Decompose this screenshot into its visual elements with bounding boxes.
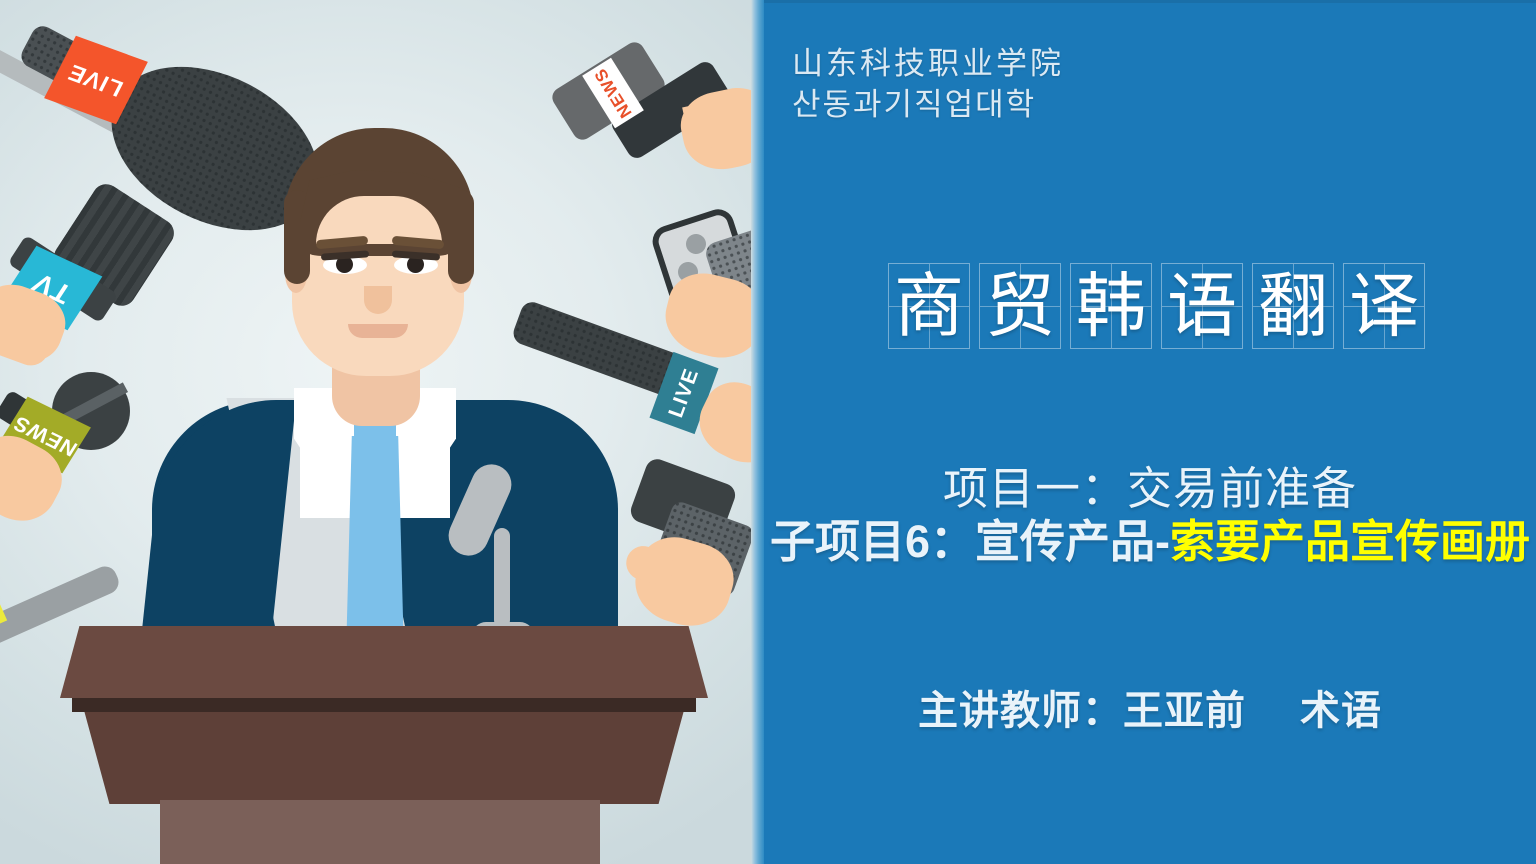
project-line: 项目一：交易前准备 bbox=[764, 462, 1536, 515]
school-name-chinese: 山东科技职业学院 bbox=[792, 44, 1392, 85]
podium-desk-mic-gooseneck-shape bbox=[494, 528, 510, 628]
title-char-3: 韩 bbox=[1076, 271, 1146, 341]
title-char-5: 翻 bbox=[1258, 271, 1328, 341]
title-char-box-4: 语 bbox=[1161, 263, 1243, 349]
mouth-shape bbox=[348, 324, 408, 338]
course-title-grid: 商 贸 韩 语 翻 译 bbox=[888, 263, 1425, 349]
podium-stem-shape bbox=[160, 800, 600, 864]
title-char-box-6: 译 bbox=[1343, 263, 1425, 349]
nose-shape bbox=[364, 286, 392, 314]
title-char-box-1: 商 bbox=[888, 263, 970, 349]
panel-edge-gradient-strip bbox=[751, 0, 764, 864]
title-char-box-2: 贸 bbox=[979, 263, 1061, 349]
subproject-plain-text: 子项目6：宣传产品- bbox=[770, 516, 1170, 567]
title-char-6: 译 bbox=[1349, 271, 1419, 341]
podium-body-shape bbox=[72, 712, 696, 804]
title-char-1: 商 bbox=[894, 271, 964, 341]
subproject-line: 子项目6：宣传产品-索要产品宣传画册 bbox=[764, 515, 1536, 568]
podium-press-conference-illustration: LIVE TV NEWS NEWS bbox=[0, 0, 756, 864]
school-name-block: 山东科技职业学院 산동과기직업대학 bbox=[792, 44, 1392, 126]
title-char-4: 语 bbox=[1167, 271, 1237, 341]
title-char-box-3: 韩 bbox=[1070, 263, 1152, 349]
presenter-topic-text: 术语 bbox=[1300, 689, 1382, 733]
panel-top-accent-line bbox=[764, 0, 1536, 3]
title-char-box-5: 翻 bbox=[1252, 263, 1334, 349]
subtitle-block: 项目一：交易前准备 子项目6：宣传产品-索要产品宣传画册 bbox=[764, 462, 1536, 568]
presenter-line: 主讲教师：王亚前术语 bbox=[764, 678, 1536, 736]
title-char-2: 贸 bbox=[985, 271, 1055, 341]
subproject-highlight-text: 索要产品宣传画册 bbox=[1170, 516, 1530, 567]
presenter-name-text: 主讲教师：王亚前 bbox=[918, 689, 1246, 733]
presentation-slide: LIVE TV NEWS NEWS bbox=[0, 0, 1536, 864]
podium-top-panel-shape bbox=[60, 626, 708, 698]
school-name-korean: 산동과기직업대학 bbox=[792, 85, 1392, 126]
podium-divider-shape bbox=[72, 698, 696, 712]
